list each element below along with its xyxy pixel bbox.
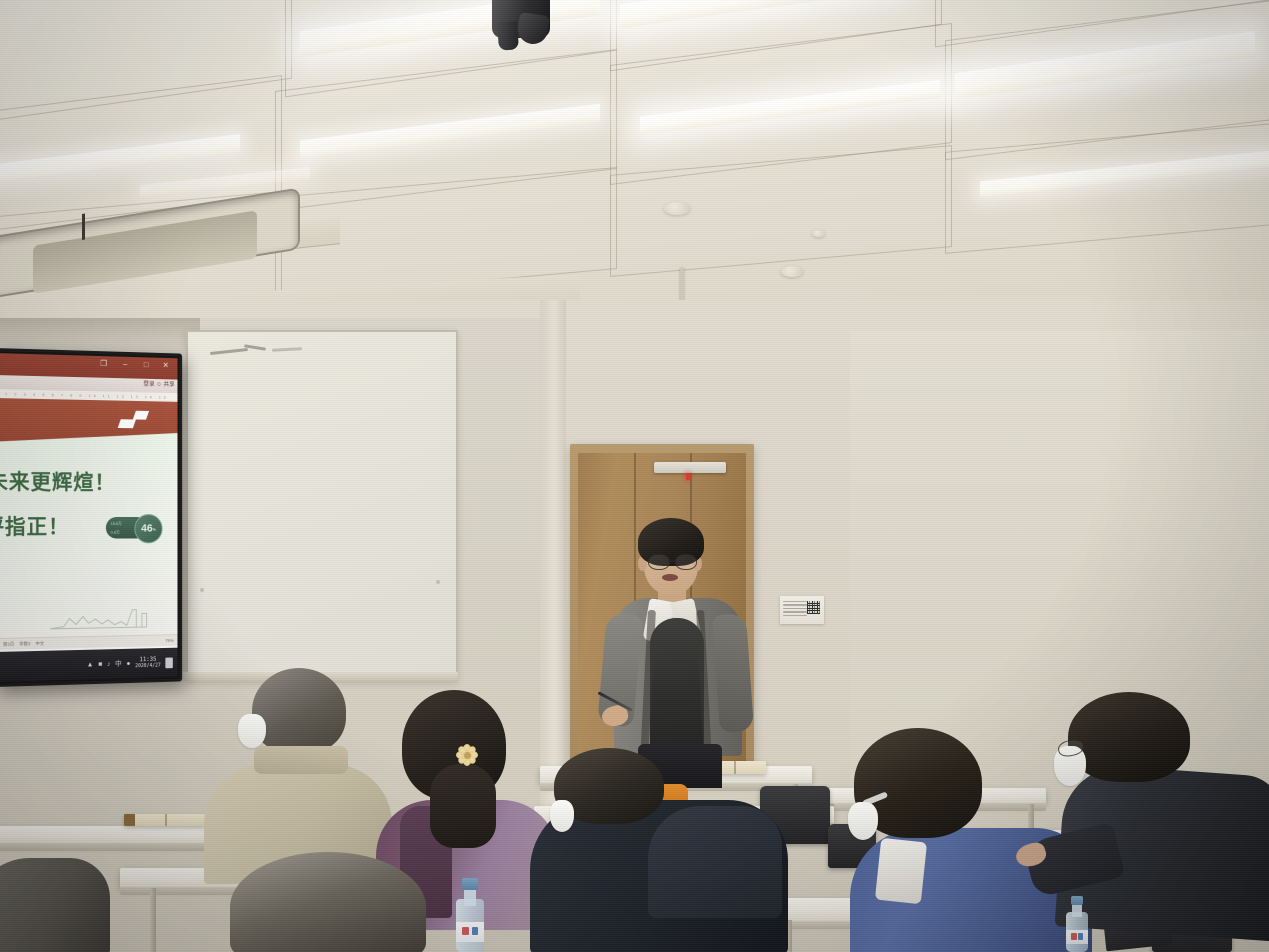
- slide-heading-line1: 未来更辉煊！: [0, 466, 115, 497]
- shirt-collar: [254, 746, 348, 774]
- wall-display[interactable]: ❐ – □ ✕ 登录 ☺ 共享 1 2 3 4 5 6 7 8 9 10 11 …: [0, 348, 182, 687]
- restore-icon[interactable]: ❐: [100, 360, 107, 368]
- whiteboard-mark: [200, 588, 204, 592]
- door-light-bar: [654, 462, 726, 473]
- ceiling-vent-icon: [781, 266, 803, 277]
- minimize-icon[interactable]: –: [123, 361, 127, 369]
- gray-hair: [230, 852, 426, 952]
- audience-dark-suit: [1028, 692, 1269, 932]
- slide-waveform-graphic: [50, 603, 155, 630]
- glasses-bridge: [668, 560, 675, 562]
- table-leg: [150, 888, 156, 952]
- glasses-icon: [648, 554, 670, 570]
- presenter-mouth: [662, 574, 678, 581]
- gray-hair: [252, 668, 346, 754]
- share-icon: ☺: [156, 382, 162, 388]
- os-taskbar[interactable]: ▲ ■ ♪ 中 ● 11:35 2020/4/27: [0, 648, 177, 682]
- ceiling-projector: [492, 0, 562, 50]
- dress-shirt: [875, 838, 927, 904]
- wall-notice: [780, 596, 824, 624]
- water-bottle[interactable]: [1066, 896, 1088, 952]
- maximize-icon[interactable]: □: [144, 361, 149, 369]
- face-mask: [238, 714, 266, 748]
- face-mask: [550, 800, 574, 832]
- ac-pin-icon: [82, 214, 85, 240]
- ceiling-fixture-icon: [812, 230, 825, 237]
- taskbar-clock[interactable]: 11:35 2020/4/27: [135, 655, 160, 670]
- clock-date: 2020/4/27: [135, 663, 160, 671]
- whiteboard-mark: [272, 347, 302, 352]
- face-mask: [848, 802, 878, 840]
- status-language: 中文: [35, 640, 44, 646]
- dark-hair: [1068, 692, 1190, 782]
- show-desktop-button[interactable]: [165, 657, 172, 668]
- audience-front-left-gray: [0, 840, 110, 952]
- status-zoom[interactable]: 76%: [165, 638, 173, 643]
- conference-room-photo: ❐ – □ ✕ 登录 ☺ 共享 1 2 3 4 5 6 7 8 9 10 11 …: [0, 0, 1269, 952]
- badge-circle: 46%: [134, 514, 162, 543]
- whiteboard-mark: [436, 580, 440, 584]
- close-icon[interactable]: ✕: [163, 362, 169, 370]
- notebook[interactable]: [124, 814, 206, 826]
- slide-stat-badge: 15.8万 0.6万 46%: [106, 514, 161, 541]
- jacket-hood: [648, 806, 782, 918]
- whiteboard: [186, 330, 458, 682]
- share-button[interactable]: 共享: [163, 382, 174, 388]
- status-page: 第3页: [3, 641, 14, 647]
- audience-foreground-gray-head: [230, 852, 430, 952]
- badge-stat-bottom: 0.6万: [111, 530, 120, 536]
- flower-hair-clip-icon: [456, 744, 478, 766]
- dark-gray-top: [0, 858, 110, 952]
- audience-dark-jacket: [520, 748, 790, 952]
- network-icon[interactable]: ■: [98, 661, 102, 668]
- slide-canvas[interactable]: 未来更辉煊！ 评指正！ 15.8万 0.6万 46%: [0, 398, 177, 638]
- presenter-right-arm: [712, 613, 754, 733]
- ponytail: [430, 764, 496, 848]
- projector-arm: [497, 21, 519, 50]
- badge-circle-value: 46: [141, 523, 153, 535]
- ime-icon[interactable]: 中: [115, 659, 122, 669]
- volume-icon[interactable]: ♪: [107, 661, 110, 668]
- glasses-icon: [675, 554, 697, 570]
- door-status-led-icon: [686, 473, 690, 480]
- sign-in-button[interactable]: 登录: [143, 382, 154, 388]
- presenter-sweater: [650, 618, 704, 760]
- whiteboard-mark: [210, 348, 248, 355]
- smoke-detector-icon: [664, 202, 690, 215]
- projector-lens-icon: [516, 12, 550, 46]
- presenter: [600, 518, 760, 778]
- chevron-up-icon[interactable]: ▲: [87, 661, 94, 668]
- display-screen[interactable]: ❐ – □ ✕ 登录 ☺ 共享 1 2 3 4 5 6 7 8 9 10 11 …: [0, 353, 177, 682]
- badge-circle-unit: %: [153, 526, 156, 531]
- audience-elderly-man: [198, 668, 398, 878]
- badge-stat-top: 15.8万: [111, 521, 122, 527]
- status-words: 字数3: [19, 641, 30, 647]
- water-bottle[interactable]: [456, 878, 484, 952]
- notice-text-lines: [783, 601, 807, 618]
- slide-heading-line2: 评指正！: [0, 511, 69, 541]
- language-icon[interactable]: ●: [127, 660, 131, 667]
- qr-code-icon: [807, 601, 820, 614]
- slide-logo-icon: [119, 410, 157, 432]
